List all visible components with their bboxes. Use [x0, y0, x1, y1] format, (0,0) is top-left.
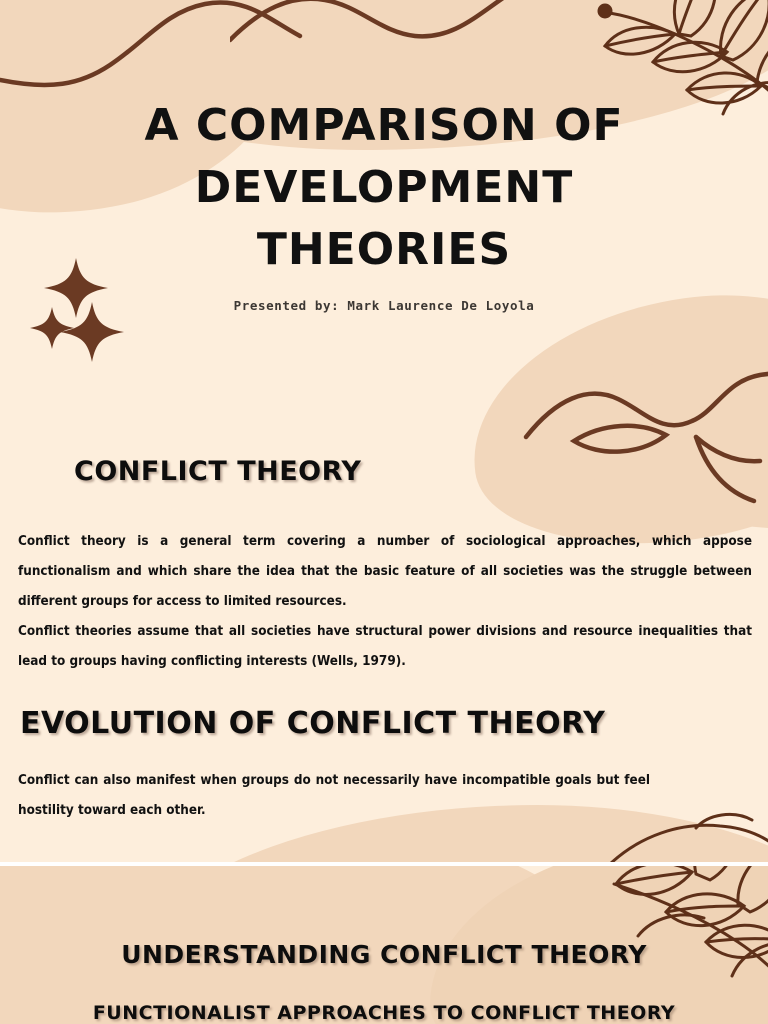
heading-functionalist-approaches: FUNCTIONALIST APPROACHES TO CONFLICT THE… [0, 1002, 768, 1024]
paragraph-conflict-theory-definition: Conflict theory is a general term coveri… [18, 527, 752, 617]
presentation-document: A COMPARISON OF DEVELOPMENT THEORIES Pre… [0, 0, 768, 1024]
slide-1: A COMPARISON OF DEVELOPMENT THEORIES Pre… [0, 0, 768, 862]
heading-evolution-of-conflict-theory: EVOLUTION OF CONFLICT THEORY [20, 706, 605, 741]
title-line-1: A COMPARISON OF [0, 95, 768, 157]
title-line-3: THEORIES [0, 219, 768, 281]
paragraph-conflict-manifestation: Conflict can also manifest when groups d… [18, 766, 650, 826]
heading-understanding-conflict-theory: UNDERSTANDING CONFLICT THEORY [0, 940, 768, 969]
presenter-subtitle: Presented by: Mark Laurence De Loyola [0, 298, 768, 313]
slide-2: UNDERSTANDING CONFLICT THEORY FUNCTIONAL… [0, 866, 768, 1024]
title-line-2: DEVELOPMENT [0, 157, 768, 219]
heading-conflict-theory: CONFLICT THEORY [74, 456, 361, 487]
page-title: A COMPARISON OF DEVELOPMENT THEORIES [0, 95, 768, 281]
paragraph-conflict-theories-assumptions: Conflict theories assume that all societ… [18, 617, 752, 677]
